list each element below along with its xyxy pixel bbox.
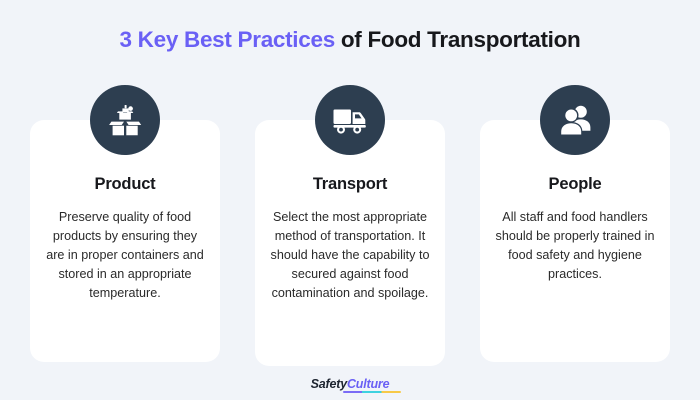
footer: SafetyCulture xyxy=(0,376,700,392)
card-heading: Product xyxy=(43,174,207,194)
page-title-container: 3 Key Best Practices of Food Transportat… xyxy=(0,26,700,54)
logo-text-culture: Culture xyxy=(347,377,389,391)
card-transport: Transport Select the most appropriate me… xyxy=(255,120,445,366)
cards-row: Product Preserve quality of food product… xyxy=(30,120,670,366)
page-title: 3 Key Best Practices of Food Transportat… xyxy=(0,26,700,54)
page-title-accent: 3 Key Best Practices xyxy=(120,27,335,52)
card-product: Product Preserve quality of food product… xyxy=(30,120,220,362)
logo-text-safety: Safety xyxy=(311,377,347,391)
safetyculture-logo: SafetyCulture xyxy=(311,376,390,392)
card-people: People All staff and food handlers shoul… xyxy=(480,120,670,362)
delivery-truck-icon xyxy=(315,85,385,155)
card-body: Select the most appropriate method of tr… xyxy=(268,208,432,303)
card-body: Preserve quality of food products by ens… xyxy=(43,208,207,303)
people-group-icon xyxy=(540,85,610,155)
card-heading: People xyxy=(493,174,657,194)
card-body: All staff and food handlers should be pr… xyxy=(493,208,657,284)
infographic-page: 3 Key Best Practices of Food Transportat… xyxy=(0,0,700,400)
card-heading: Transport xyxy=(268,174,432,194)
logo-underline-gradient xyxy=(343,391,401,394)
boxes-package-icon xyxy=(90,85,160,155)
page-title-rest: of Food Transportation xyxy=(335,27,581,52)
